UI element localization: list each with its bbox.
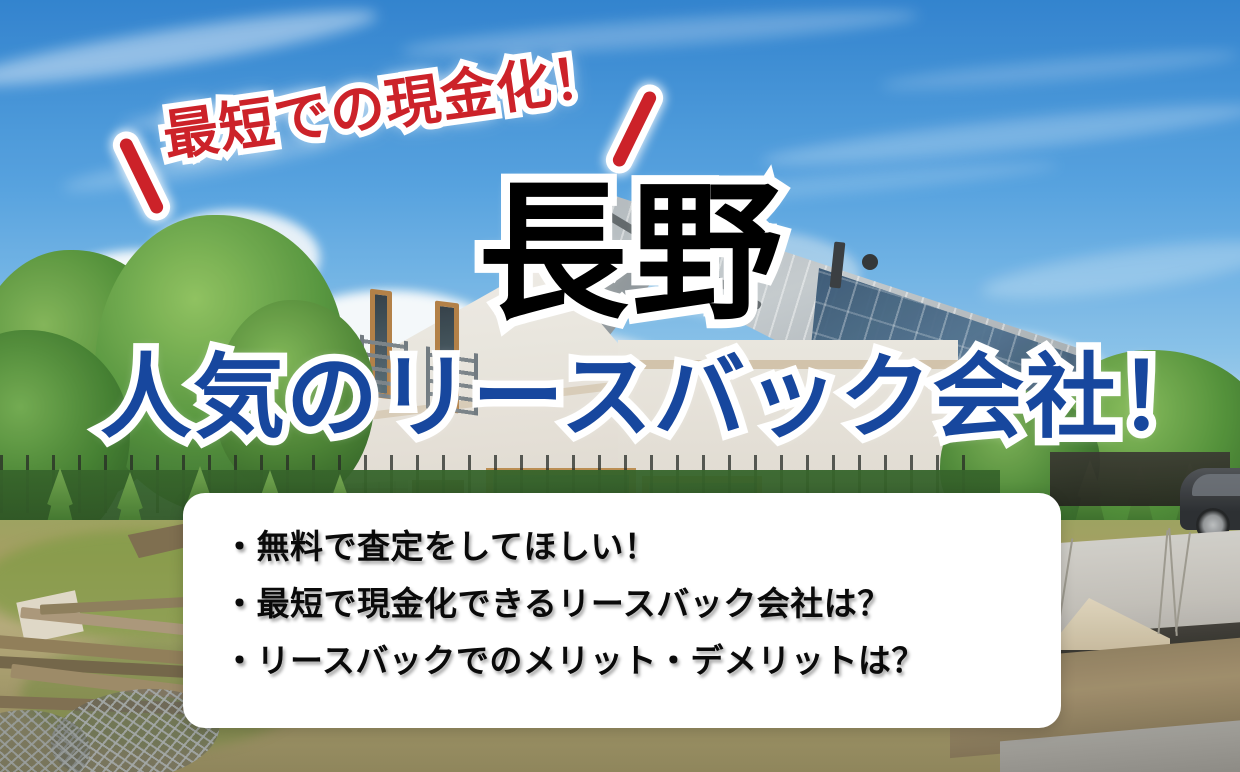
benefits-list: ・無料で査定をしてほしい！ ・最短で現金化できるリースバック会社は？ ・リースバ… bbox=[223, 519, 1021, 689]
page-title: 長野 bbox=[478, 178, 786, 328]
banner-stage: 最短での現金化！ 長野 人気のリースバック会社！ ・無料で査定をしてほしい！ ・… bbox=[0, 0, 1240, 772]
benefits-card: ・無料で査定をしてほしい！ ・最短で現金化できるリースバック会社は？ ・リースバ… bbox=[183, 493, 1061, 728]
page-subtitle: 人気のリースバック会社！ bbox=[100, 352, 1211, 444]
list-item: ・無料で査定をしてほしい！ bbox=[223, 519, 1021, 576]
list-item: ・最短で現金化できるリースバック会社は？ bbox=[223, 576, 1021, 633]
list-item: ・リースバックでのメリット・デメリットは？ bbox=[223, 633, 1021, 690]
